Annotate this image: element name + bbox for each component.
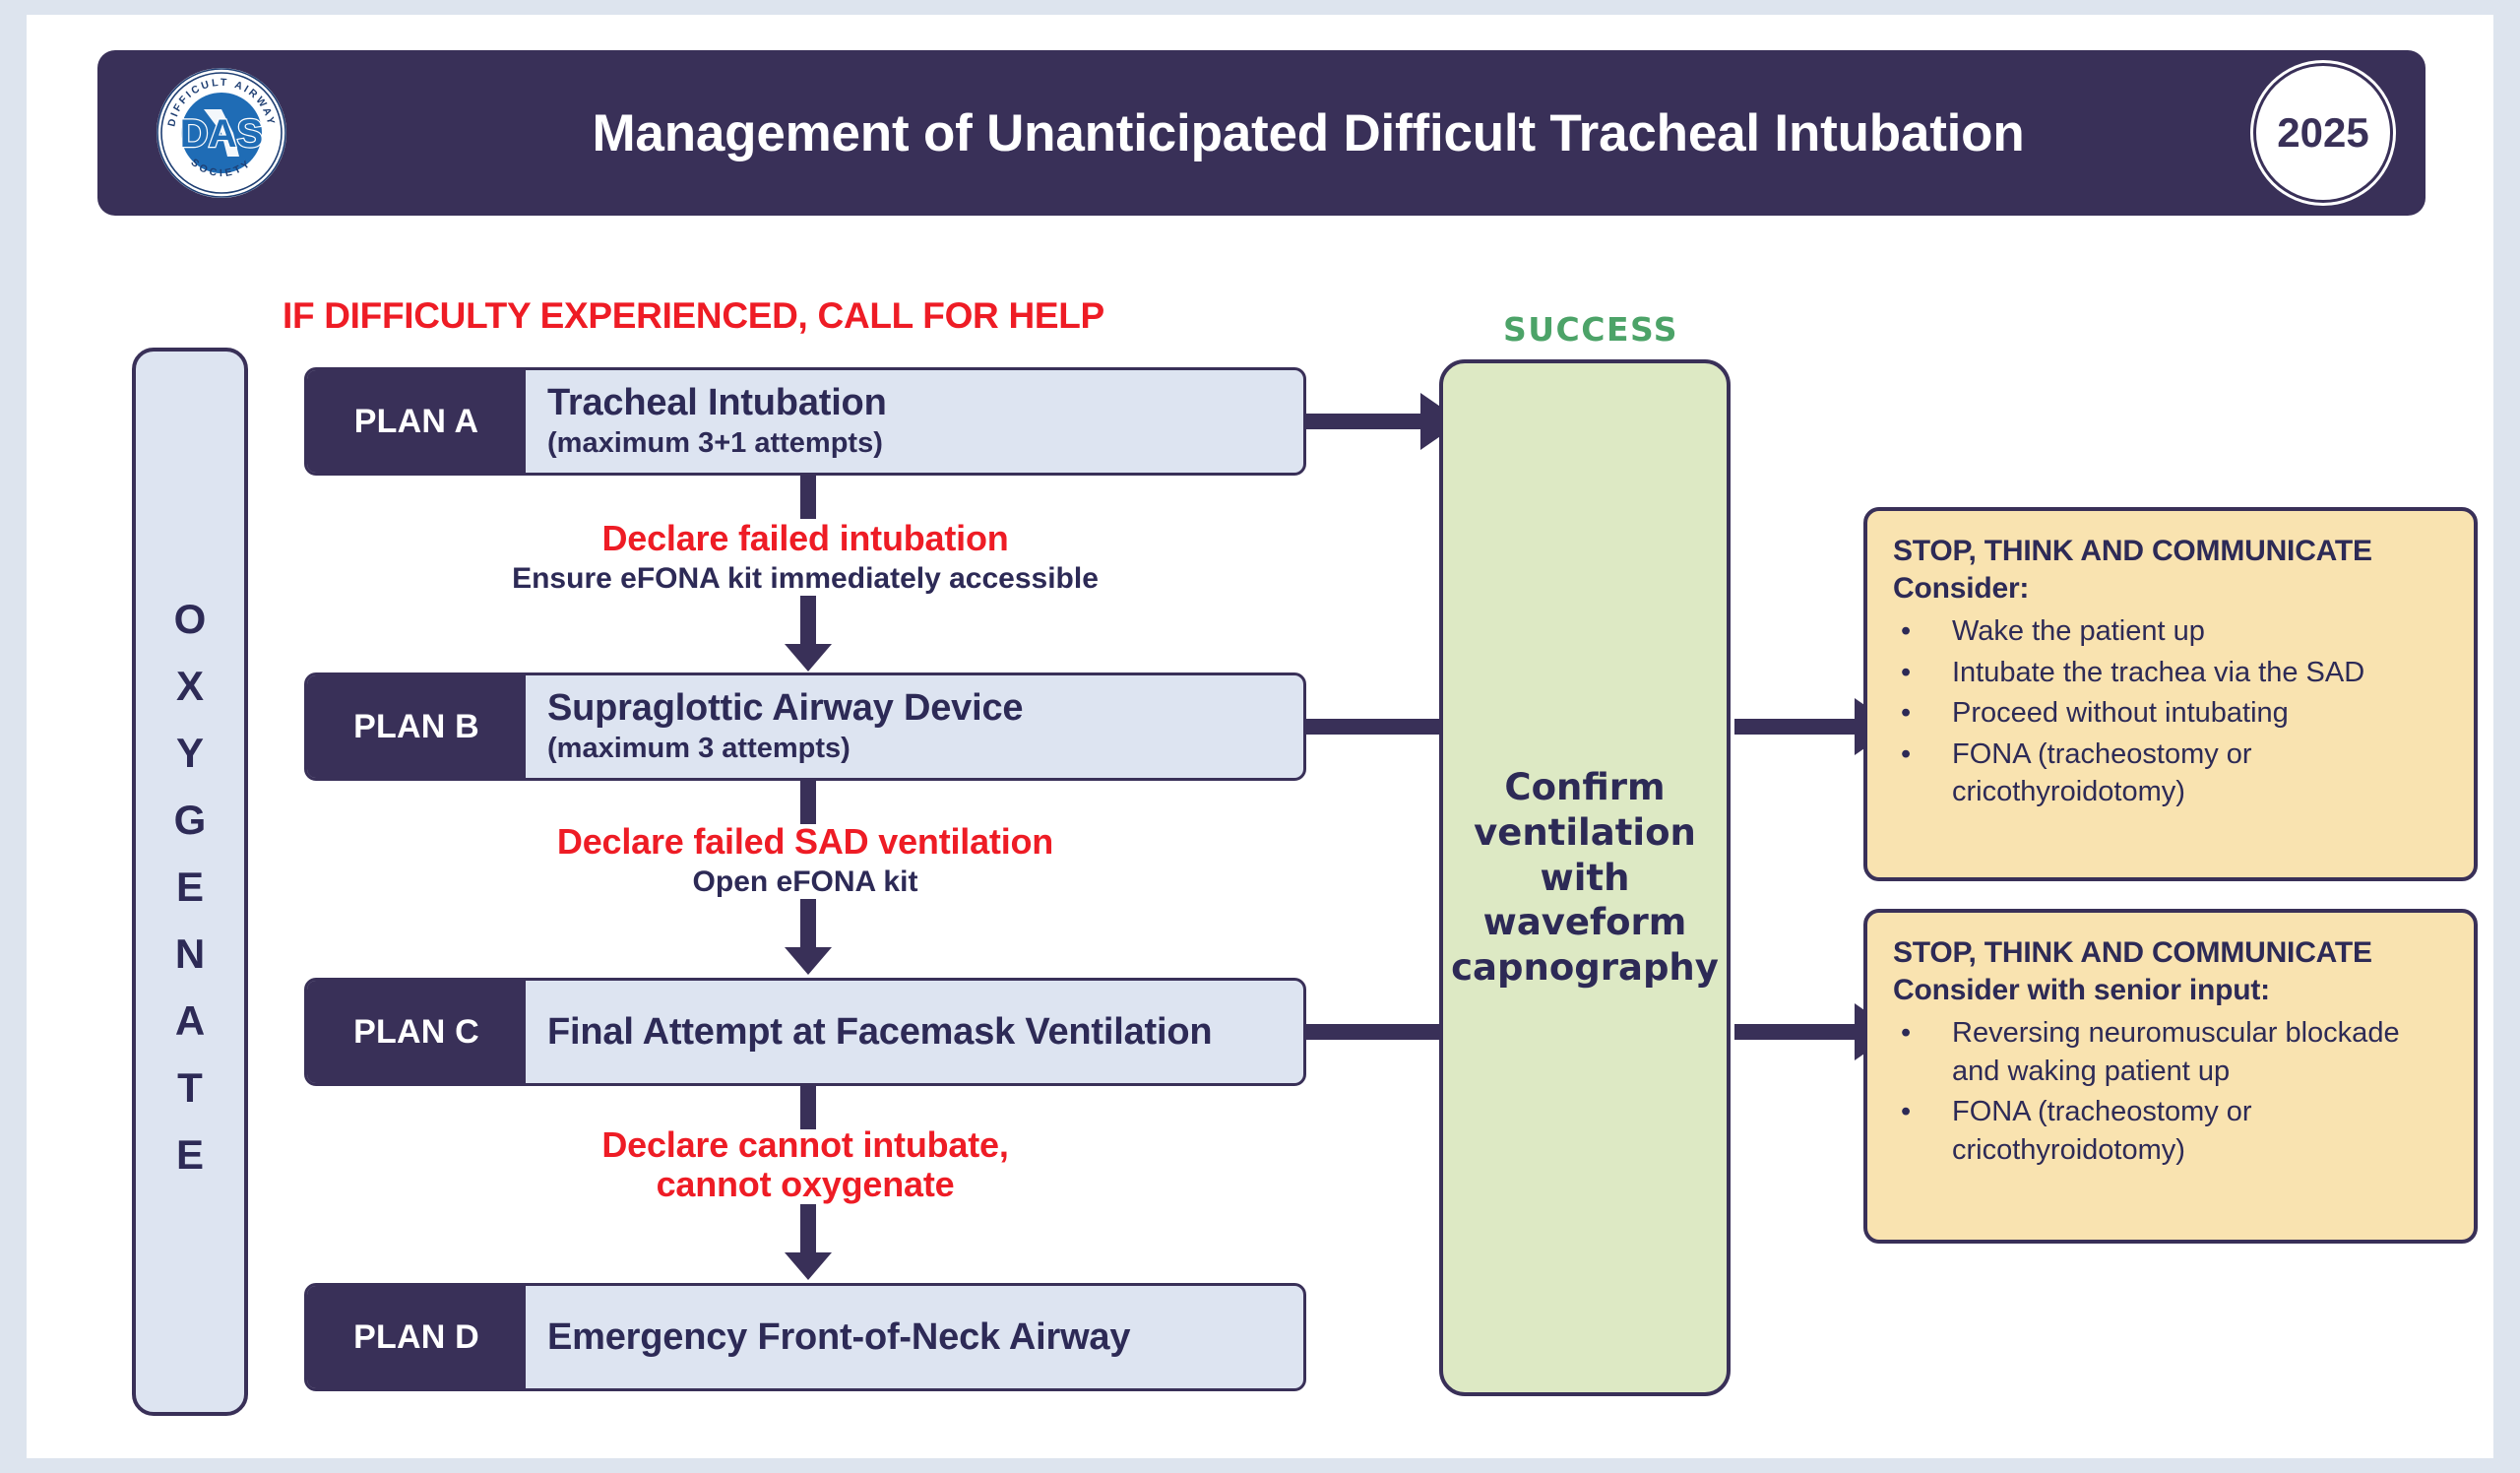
oxygenate-letter: E — [176, 1134, 204, 1176]
advice-subheading: Consider: — [1893, 570, 2448, 608]
list-item-text: Reversing neuromuscular blockade and wak… — [1952, 1014, 2448, 1090]
list-item: • FONA (tracheostomy or cricothyroidotom… — [1893, 736, 2448, 811]
plan-d-label: PLAN D — [307, 1286, 526, 1388]
list-item: • Proceed without intubating — [1893, 694, 2448, 733]
oxygenate-letter: Y — [176, 733, 204, 774]
bullet-icon: • — [1893, 1014, 1952, 1090]
list-item: • Intubate the trachea via the SAD — [1893, 654, 2448, 692]
advice-list: • Reversing neuromuscular blockade and w… — [1893, 1014, 2448, 1169]
arrow-segment-solid-right — [1734, 1024, 1857, 1040]
list-item-text: FONA (tracheostomy or cricothyroidotomy) — [1952, 736, 2448, 811]
oxygenate-letter: X — [176, 666, 204, 707]
transition-b-instruction: Open eFONA kit — [304, 865, 1306, 900]
list-item-text: Intubate the trachea via the SAD — [1952, 654, 2448, 692]
bullet-icon: • — [1893, 612, 1952, 651]
success-box-text: Confirm ventilation with waveform capnog… — [1451, 765, 1719, 991]
plan-d-body: Emergency Front-of-Neck Airway — [526, 1286, 1303, 1388]
list-item-text: FONA (tracheostomy or cricothyroidotomy) — [1952, 1093, 2448, 1169]
plan-d-title: Emergency Front-of-Neck Airway — [547, 1316, 1303, 1359]
oxygenate-letter: T — [177, 1067, 203, 1109]
oxygenate-letter: A — [175, 1000, 205, 1042]
plan-c-title: Final Attempt at Facemask Ventilation — [547, 1011, 1303, 1054]
transition-a: Declare failed intubation Ensure eFONA k… — [304, 519, 1306, 597]
arrow-plan-a-to-success — [1306, 414, 1422, 429]
list-item: • Reversing neuromuscular blockade and w… — [1893, 1014, 2448, 1090]
transition-c: Declare cannot intubate, cannot oxygenat… — [304, 1125, 1306, 1205]
call-for-help-banner: IF DIFFICULTY EXPERIENCED, CALL FOR HELP — [283, 295, 1104, 337]
plan-a-body: Tracheal Intubation (maximum 3+1 attempt… — [526, 370, 1303, 473]
bullet-icon: • — [1893, 694, 1952, 733]
advice-heading: STOP, THINK AND COMMUNICATE — [1893, 934, 2448, 972]
advice-subheading: Consider with senior input: — [1893, 972, 2448, 1009]
oxygenate-letter: G — [174, 800, 207, 841]
arrow-segment-solid-right — [1734, 719, 1857, 735]
plan-b-title: Supraglottic Airway Device — [547, 687, 1303, 730]
plan-a-title: Tracheal Intubation — [547, 382, 1303, 424]
svg-text:DAS: DAS — [180, 112, 263, 156]
year-badge: 2025 — [2256, 66, 2390, 200]
transition-a-declare: Declare failed intubation — [304, 519, 1306, 558]
connector-stub-b — [800, 781, 816, 824]
success-box: Confirm ventilation with waveform capnog… — [1439, 359, 1731, 1396]
list-item: • FONA (tracheostomy or cricothyroidotom… — [1893, 1093, 2448, 1169]
plan-b-label: PLAN B — [307, 675, 526, 778]
advice-list: • Wake the patient up • Intubate the tra… — [1893, 612, 2448, 811]
arrow-segment-solid-left — [1306, 1024, 1439, 1040]
list-item-text: Wake the patient up — [1952, 612, 2448, 651]
plan-a-box[interactable]: PLAN A Tracheal Intubation (maximum 3+1 … — [304, 367, 1306, 476]
transition-b: Declare failed SAD ventilation Open eFON… — [304, 822, 1306, 900]
plan-b-body: Supraglottic Airway Device (maximum 3 at… — [526, 675, 1303, 778]
bullet-icon: • — [1893, 1093, 1952, 1169]
connector-stub-c — [800, 1086, 816, 1129]
plan-b-subtitle: (maximum 3 attempts) — [547, 732, 1303, 766]
advice-box-plan-c: STOP, THINK AND COMMUNICATE Consider wit… — [1863, 909, 2478, 1244]
bullet-icon: • — [1893, 736, 1952, 811]
oxygenate-letter: N — [175, 933, 205, 975]
plan-d-box[interactable]: PLAN D Emergency Front-of-Neck Airway — [304, 1283, 1306, 1391]
arrow-segment-solid-left — [1306, 719, 1439, 735]
plan-c-label: PLAN C — [307, 981, 526, 1083]
oxygenate-letter: O — [174, 599, 207, 640]
transition-a-instruction: Ensure eFONA kit immediately accessible — [304, 561, 1306, 597]
advice-heading: STOP, THINK AND COMMUNICATE — [1893, 533, 2448, 570]
bullet-icon: • — [1893, 654, 1952, 692]
plan-a-label: PLAN A — [307, 370, 526, 473]
transition-c-declare: Declare cannot intubate, cannot oxygenat… — [304, 1125, 1306, 1205]
oxygenate-letter: E — [176, 866, 204, 908]
plan-c-box[interactable]: PLAN C Final Attempt at Facemask Ventila… — [304, 978, 1306, 1086]
arrow-b-to-c — [800, 899, 816, 948]
algorithm-page: DAS DIFFICULT AIRWAY SOCIETY Management … — [27, 15, 2493, 1458]
plan-c-body: Final Attempt at Facemask Ventilation — [526, 981, 1303, 1083]
oxygenate-column: O X Y G E N A T E — [132, 348, 248, 1416]
list-item: • Wake the patient up — [1893, 612, 2448, 651]
plan-a-subtitle: (maximum 3+1 attempts) — [547, 426, 1303, 461]
das-society-logo: DAS DIFFICULT AIRWAY SOCIETY — [155, 66, 288, 200]
connector-stub-a — [800, 476, 816, 519]
arrow-c-to-d — [800, 1204, 816, 1253]
transition-b-declare: Declare failed SAD ventilation — [304, 822, 1306, 862]
header-bar: DAS DIFFICULT AIRWAY SOCIETY Management … — [97, 50, 2425, 216]
list-item-text: Proceed without intubating — [1952, 694, 2448, 733]
arrow-a-to-b — [800, 596, 816, 645]
success-label: SUCCESS — [1428, 310, 1753, 349]
advice-box-plan-b: STOP, THINK AND COMMUNICATE Consider: • … — [1863, 507, 2478, 881]
plan-b-box[interactable]: PLAN B Supraglottic Airway Device (maxim… — [304, 672, 1306, 781]
page-title: Management of Unanticipated Difficult Tr… — [344, 50, 2273, 216]
